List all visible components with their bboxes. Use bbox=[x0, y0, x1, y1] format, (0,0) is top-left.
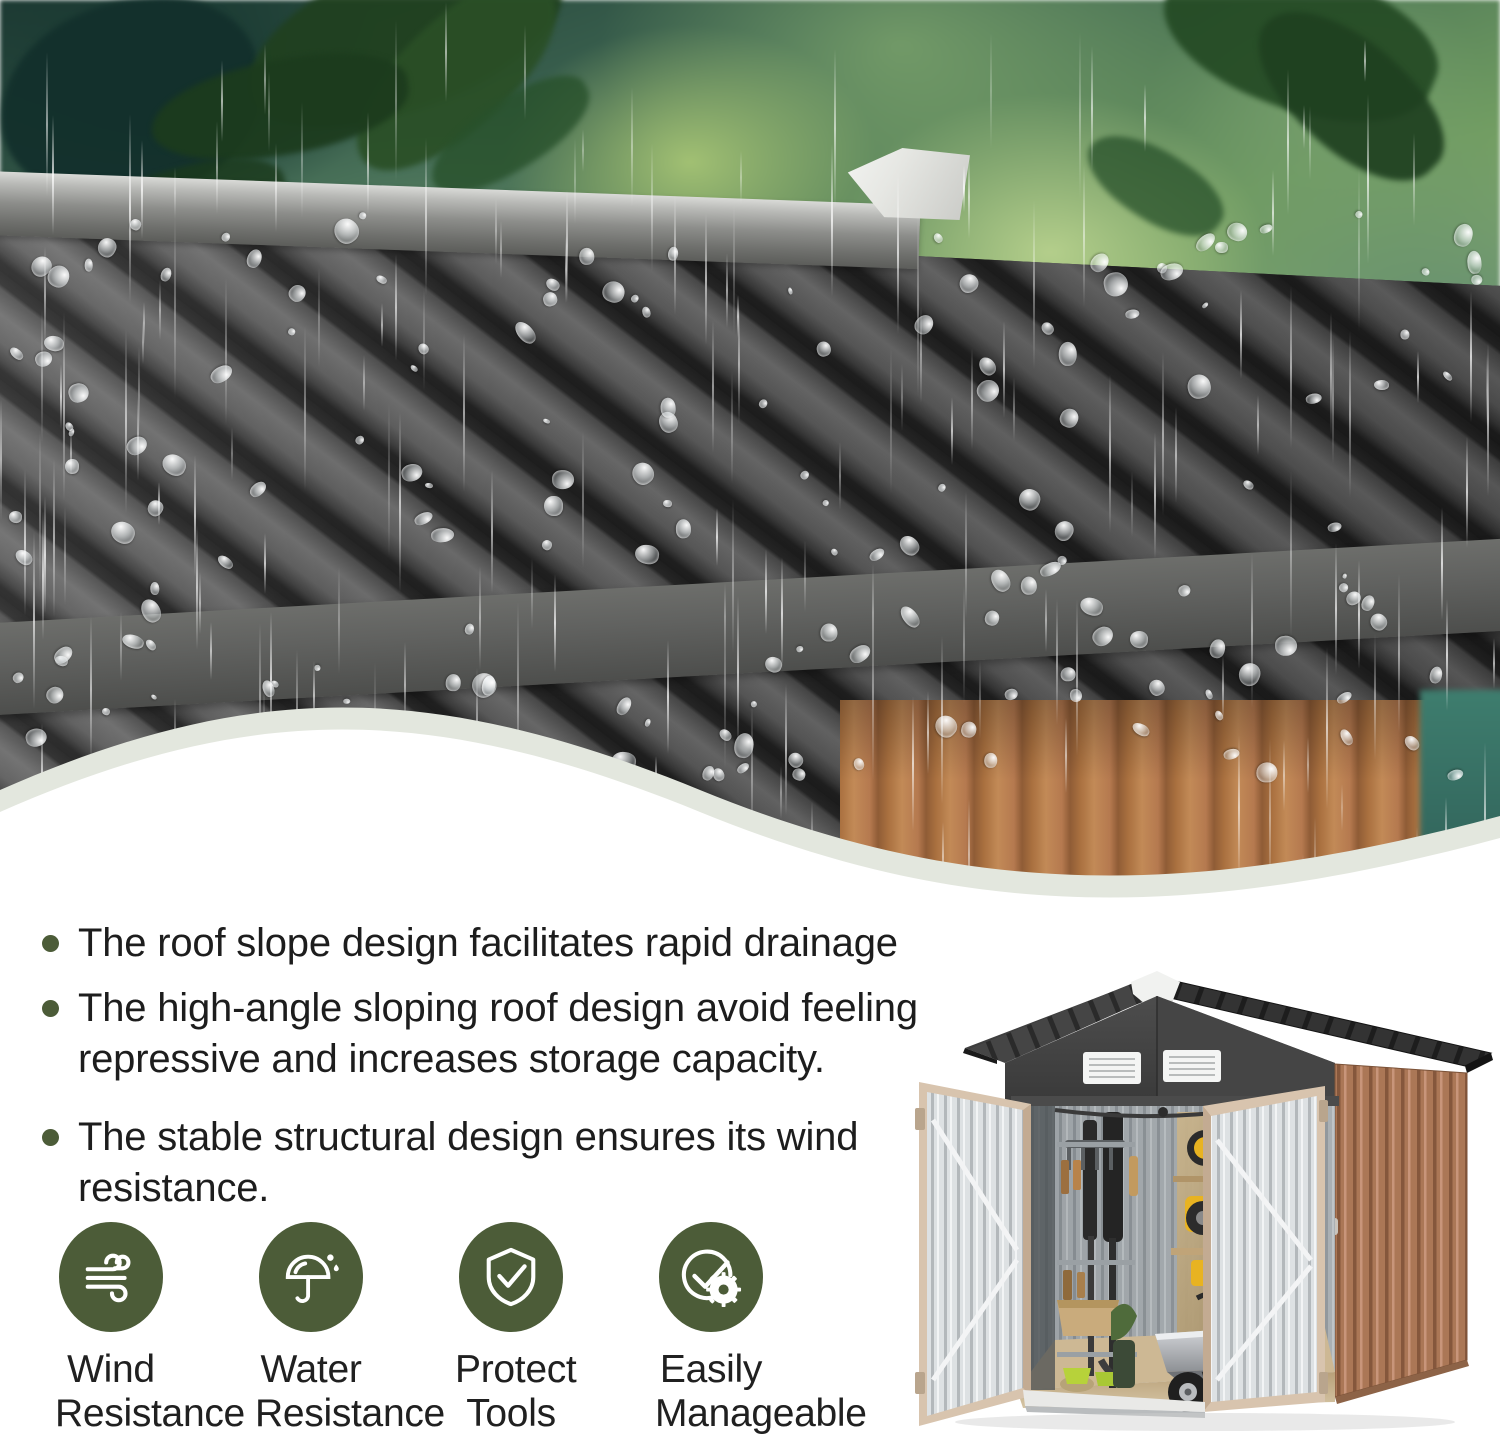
feature-label-line2: Tools bbox=[455, 1392, 567, 1436]
check-gear-icon bbox=[680, 1246, 742, 1308]
badge-circle bbox=[259, 1222, 363, 1332]
bullet-text: The roof slope design facilitates rapid … bbox=[78, 918, 898, 969]
feature-wind-resistance: Wind Resistance bbox=[55, 1222, 167, 1436]
feature-easily-manageable: Easily Manageable bbox=[655, 1222, 767, 1436]
feature-label: Protect Tools bbox=[455, 1348, 567, 1436]
door-hinge bbox=[1319, 1100, 1328, 1122]
door-brace-bolt bbox=[1158, 1107, 1168, 1117]
shed-door-right[interactable] bbox=[1203, 1086, 1328, 1412]
feature-label-line1: Water bbox=[255, 1348, 367, 1392]
wind-icon bbox=[80, 1246, 142, 1308]
badge-circle bbox=[59, 1222, 163, 1332]
feature-badges: Wind Resistance Water Resistanc bbox=[55, 1222, 895, 1436]
bullet-text: The stable structural design ensures its… bbox=[78, 1112, 972, 1214]
feature-label: Easily Manageable bbox=[655, 1348, 767, 1436]
umbrella-rain-icon bbox=[280, 1246, 342, 1308]
bullet-dot-icon bbox=[42, 1129, 59, 1146]
feature-label: Water Resistance bbox=[255, 1348, 367, 1436]
feature-label: Wind Resistance bbox=[55, 1348, 167, 1436]
door-hinge bbox=[1319, 1372, 1328, 1394]
gable-vent-left bbox=[1083, 1052, 1141, 1084]
feature-label-line1: Easily bbox=[655, 1348, 767, 1392]
bullet-text: The high-angle sloping roof design avoid… bbox=[78, 983, 972, 1085]
feature-label-line2: Resistance bbox=[255, 1392, 367, 1436]
shed-door-left[interactable] bbox=[915, 1082, 1031, 1426]
shield-check-icon bbox=[482, 1246, 540, 1308]
feature-water-resistance: Water Resistance bbox=[255, 1222, 367, 1436]
hero-photo bbox=[0, 0, 1500, 900]
ground-shadow bbox=[955, 1413, 1455, 1431]
gable-vent-right bbox=[1163, 1050, 1221, 1082]
info-panel: The roof slope design facilitates rapid … bbox=[0, 900, 1500, 1433]
list-item: The high-angle sloping roof design avoid… bbox=[42, 983, 972, 1085]
product-photo-shed bbox=[905, 960, 1500, 1433]
list-item: The roof slope design facilitates rapid … bbox=[42, 918, 972, 969]
feature-protect-tools: Protect Tools bbox=[455, 1222, 567, 1436]
badge-circle bbox=[659, 1222, 763, 1332]
list-item: The stable structural design ensures its… bbox=[42, 1112, 972, 1214]
feature-bullet-list: The roof slope design facilitates rapid … bbox=[42, 918, 972, 1228]
feature-label-line2: Manageable bbox=[655, 1392, 767, 1436]
badge-circle bbox=[459, 1222, 563, 1332]
feature-label-line2: Resistance bbox=[55, 1392, 167, 1436]
bullet-dot-icon bbox=[42, 1000, 59, 1017]
door-hinge bbox=[915, 1108, 925, 1130]
wave-divider bbox=[0, 640, 1500, 900]
feature-label-line1: Wind bbox=[55, 1348, 167, 1392]
bullet-dot-icon bbox=[42, 935, 59, 952]
feature-label-line1: Protect bbox=[455, 1348, 567, 1392]
shed-side-wall bbox=[1329, 1064, 1469, 1404]
door-hinge bbox=[915, 1372, 925, 1394]
